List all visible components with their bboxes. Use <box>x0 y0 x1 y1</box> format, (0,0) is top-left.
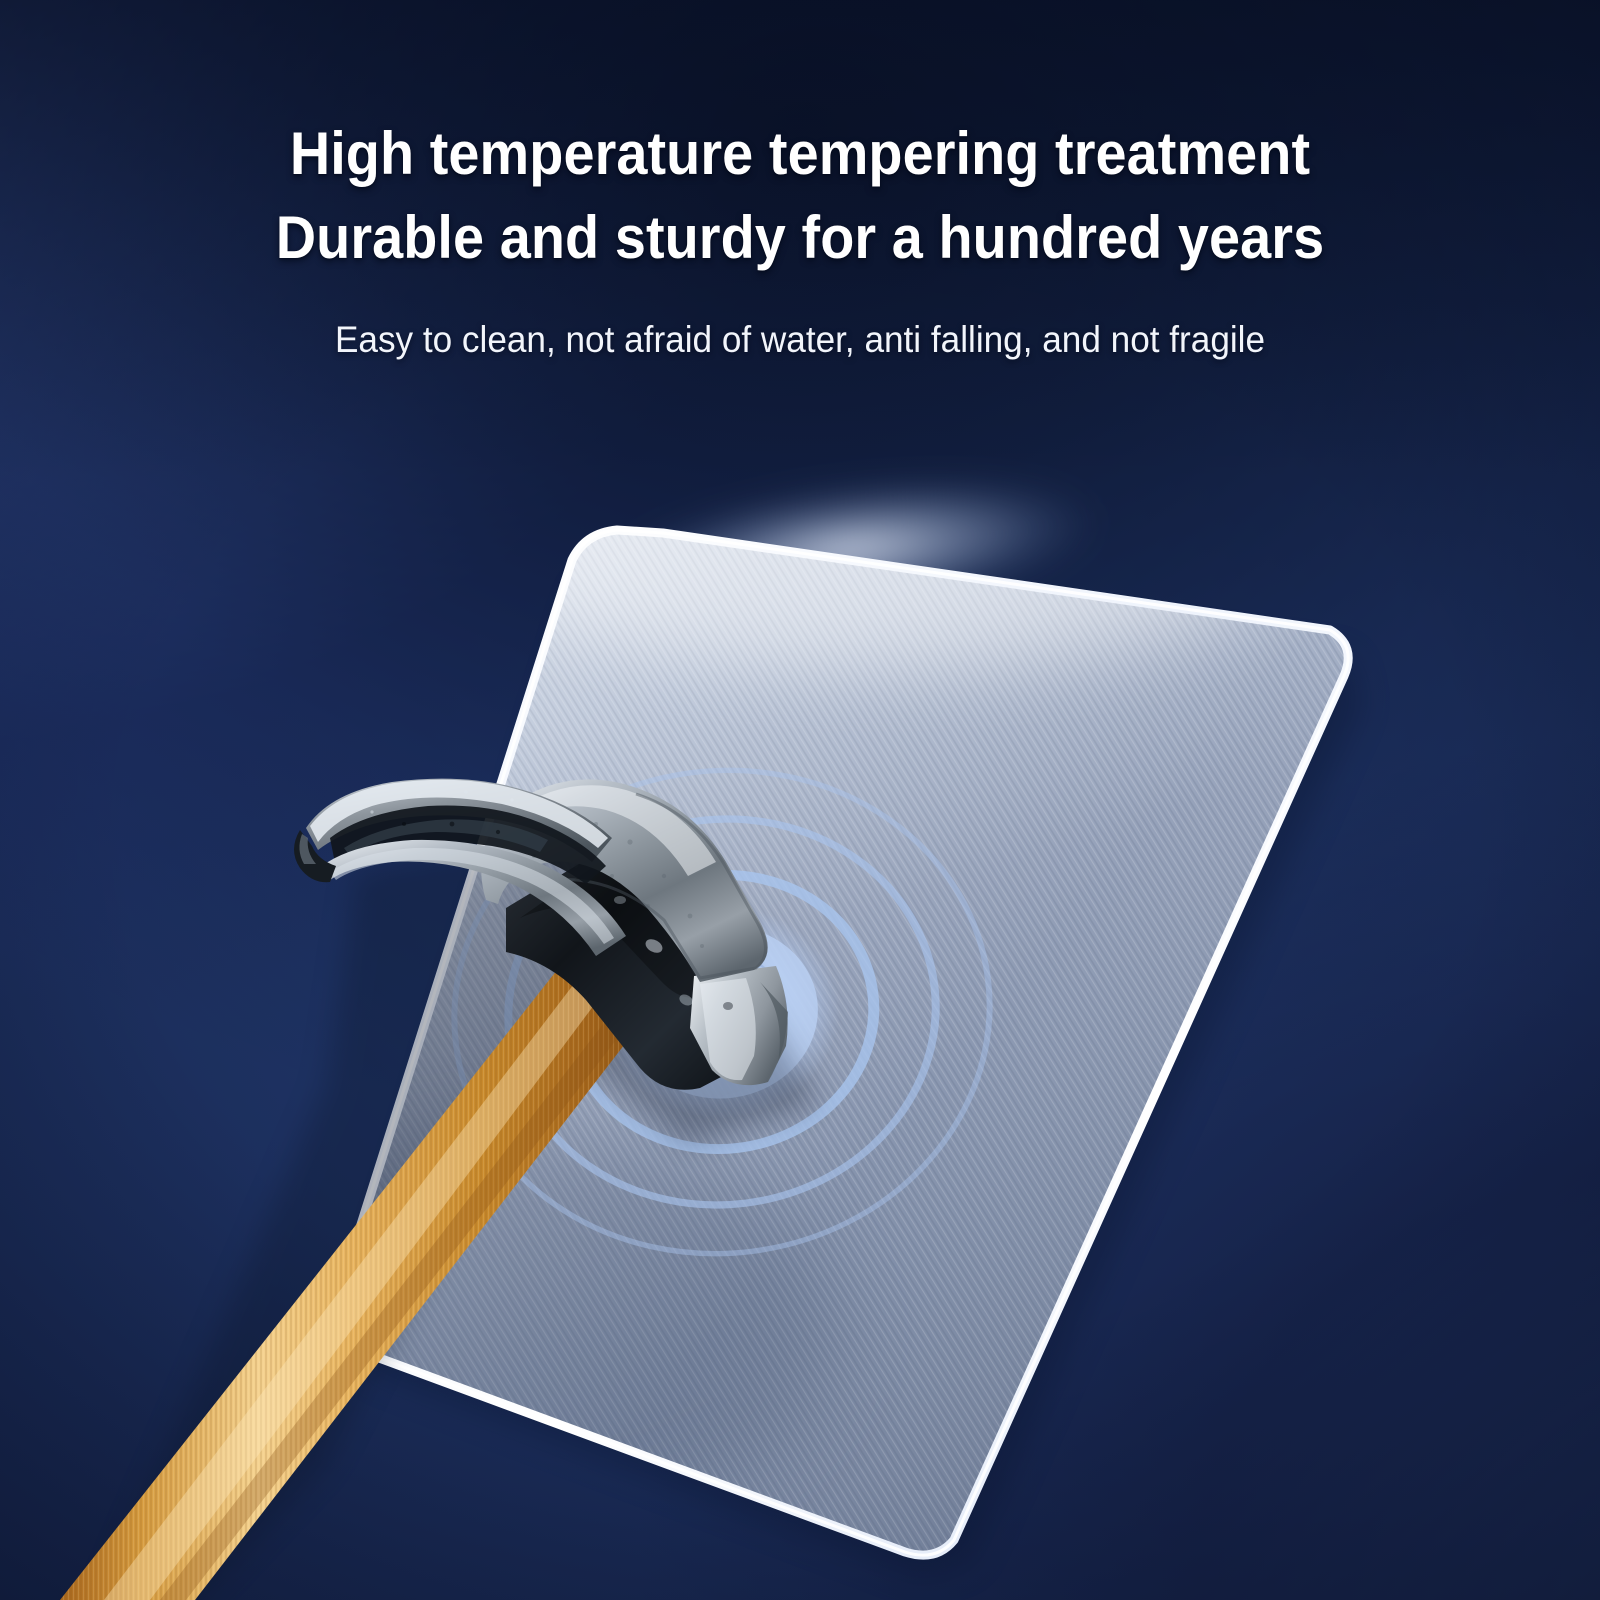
banner-stage: High temperature tempering treatment Dur… <box>0 0 1600 1600</box>
subtitle: Easy to clean, not afraid of water, anti… <box>40 316 1560 364</box>
headline-block: High temperature tempering treatment Dur… <box>0 112 1600 364</box>
headline-line-2: Durable and sturdy for a hundred years <box>56 196 1544 280</box>
headline-line-1: High temperature tempering treatment <box>56 112 1544 196</box>
